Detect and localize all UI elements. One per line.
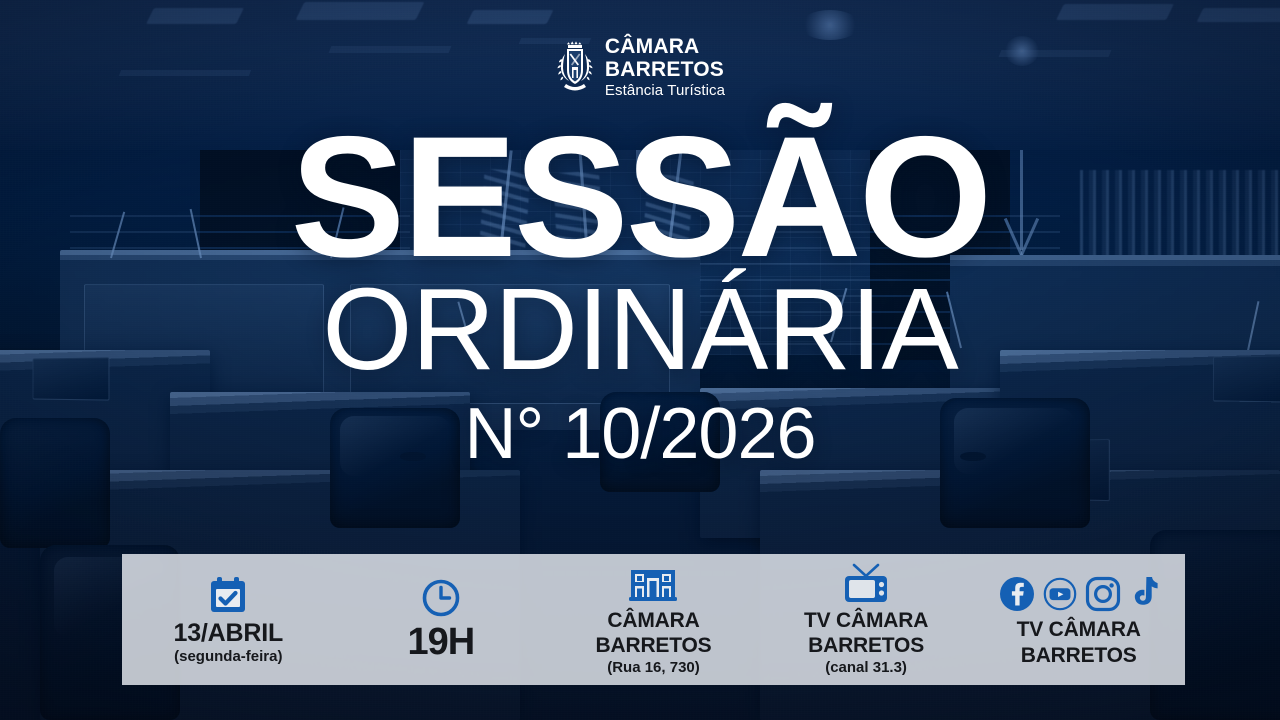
facebook-icon[interactable] — [997, 574, 1037, 614]
brand-line-3: Estância Turística — [605, 83, 725, 98]
calendar-check-icon — [207, 573, 249, 617]
poster-canvas: CÂMARA BARRETOS Estância Turística SESSÃ… — [0, 0, 1280, 720]
info-social-line-1: TV CÂMARA — [1017, 619, 1141, 641]
info-cell-date: 13/ABRIL (segunda-feira) — [122, 554, 335, 685]
session-number: N° 10/2026 — [0, 395, 1280, 474]
info-tv-line-1: TV CÂMARA — [804, 610, 928, 632]
brand-line-2: BARRETOS — [605, 59, 725, 80]
tiktok-icon[interactable] — [1127, 574, 1160, 614]
info-cell-tv: TV CÂMARA BARRETOS (canal 31.3) — [760, 554, 973, 685]
instagram-icon[interactable] — [1083, 574, 1123, 614]
info-venue-line-2: BARRETOS — [596, 635, 712, 657]
building-icon — [627, 563, 679, 607]
brand-lockup: CÂMARA BARRETOS Estância Turística — [0, 36, 1280, 98]
info-cell-social: TV CÂMARA BARRETOS — [972, 554, 1185, 685]
info-cell-time: 19H — [335, 554, 548, 685]
info-tv-line-2: BARRETOS — [808, 635, 924, 657]
brand-line-1: CÂMARA — [605, 36, 725, 57]
info-venue-line-1: CÂMARA — [607, 610, 699, 632]
info-venue-address: (Rua 16, 730) — [607, 660, 700, 677]
info-social-line-2: BARRETOS — [1021, 645, 1137, 667]
youtube-icon[interactable] — [1041, 575, 1079, 613]
title-main: SESSÃO — [0, 118, 1280, 276]
info-date-weekday: (segunda-feira) — [174, 649, 282, 666]
info-date-primary: 13/ABRIL — [174, 620, 284, 646]
info-time-value: 19H — [408, 623, 475, 663]
poster-title-block: SESSÃO ORDINÁRIA N° 10/2026 — [0, 118, 1280, 474]
info-bar: 13/ABRIL (segunda-feira) 19H — [122, 554, 1185, 685]
clock-icon — [420, 576, 462, 620]
barretos-coat-of-arms-icon — [555, 40, 595, 94]
info-tv-channel: (canal 31.3) — [825, 660, 907, 677]
television-icon — [841, 563, 891, 607]
social-icon-row — [997, 574, 1160, 614]
title-subtitle: ORDINÁRIA — [0, 270, 1280, 388]
info-cell-venue: CÂMARA BARRETOS (Rua 16, 730) — [547, 554, 760, 685]
